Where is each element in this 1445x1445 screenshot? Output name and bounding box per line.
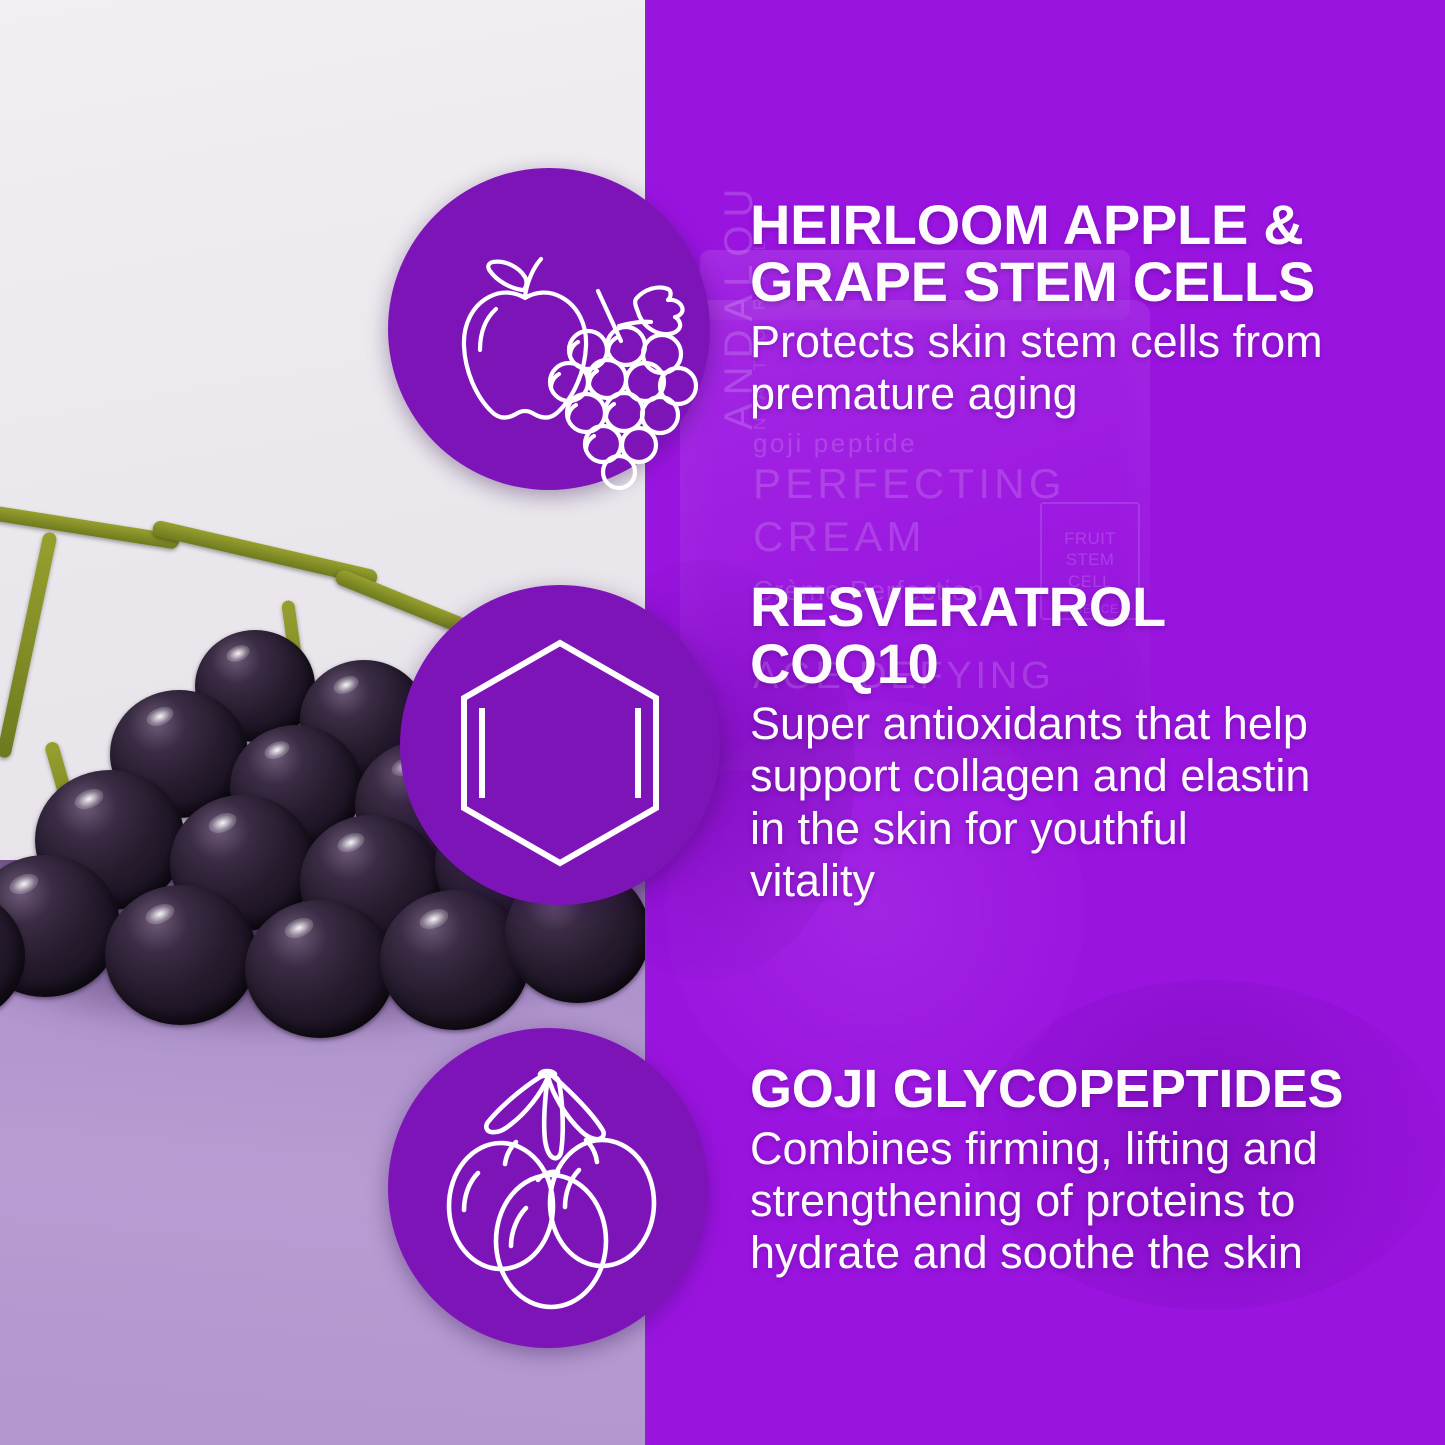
feature-block-1: HEIRLOOM APPLE & GRAPE STEM CELLS Protec… xyxy=(750,196,1380,421)
feature-2-body: Super antioxidants that help support col… xyxy=(750,698,1320,907)
feature-1-title: HEIRLOOM APPLE & GRAPE STEM CELLS xyxy=(750,196,1380,310)
ghost-line-perfecting: PERFECTING xyxy=(753,460,1066,508)
goji-berries-icon-circle[interactable] xyxy=(388,1028,708,1348)
apple-grape-icon-circle[interactable] xyxy=(388,168,710,490)
goji-berries-icon xyxy=(388,1028,708,1348)
feature-1-body: Protects skin stem cells from premature … xyxy=(750,316,1380,420)
ghost-line-top: goji peptide xyxy=(753,428,917,459)
feature-block-3: GOJI GLYCOPEPTIDES Combines firming, lif… xyxy=(750,1062,1410,1280)
ghost-line-cream: CREAM xyxy=(753,513,926,561)
feature-3-title: GOJI GLYCOPEPTIDES xyxy=(750,1062,1410,1117)
feature-2-title: RESVERATROL COQ10 xyxy=(750,578,1320,692)
apple-grape-icon xyxy=(388,168,710,490)
feature-3-body: Combines firming, lifting and strengthen… xyxy=(750,1123,1410,1280)
benzene-ring-icon-circle[interactable] xyxy=(400,585,720,905)
benzene-ring-icon xyxy=(400,585,720,905)
product-infographic: ANDALOU N A T U R A L S goji peptide PER… xyxy=(0,0,1445,1445)
feature-block-2: RESVERATROL COQ10 Super antioxidants tha… xyxy=(750,578,1320,907)
